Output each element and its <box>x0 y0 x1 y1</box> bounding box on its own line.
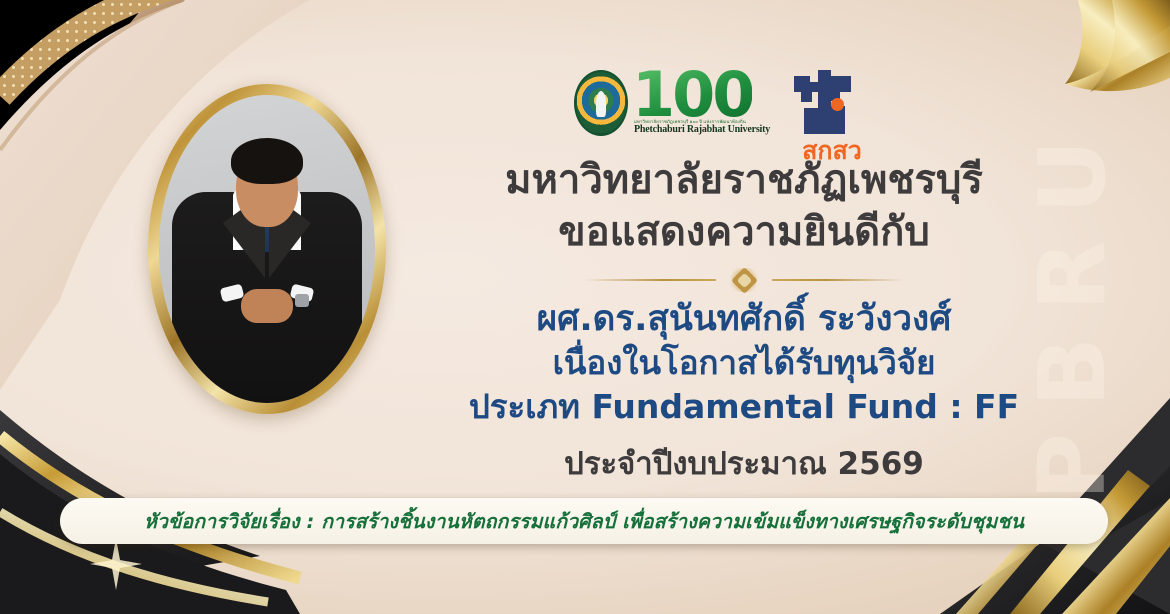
fiscal-year: ประจำปีงบประมาณ 2569 <box>424 438 1064 488</box>
research-title-text: หัวข้อการวิจัยเรื่อง : การสร้างชิ้นงานหั… <box>144 506 1024 537</box>
portrait-gold-frame <box>148 84 386 414</box>
congratulations-banner: PBRU 100 มหาวิทยาลัยราชภัฏเพชรบุรี ๑๐๐ <box>0 0 1170 614</box>
divider-bar-left <box>584 279 716 281</box>
divider-diamond-icon <box>728 268 760 292</box>
portrait-hair <box>231 138 303 184</box>
portrait-photo <box>159 95 375 403</box>
honoree-occasion: เนื่องในโอกาสได้รับทุนวิจัย <box>424 344 1064 382</box>
portrait-hands <box>241 289 293 323</box>
portrait-wristwatch <box>295 294 309 307</box>
headline-line-1: มหาวิทยาลัยราชภัฏเพชรบุรี <box>424 158 1064 203</box>
honoree-portrait <box>148 84 386 414</box>
honoree-name: ผศ.ดร.สุนันทศักดิ์ ระวังวงศ์ <box>424 300 1064 340</box>
research-title-pill: หัวข้อการวิจัยเรื่อง : การสร้างชิ้นงานหั… <box>60 498 1108 544</box>
ornamental-divider <box>584 268 904 292</box>
fund-type: ประเภท Fundamental Fund : FF <box>424 388 1064 426</box>
divider-bar-right <box>772 279 904 281</box>
headline-line-2: ขอแสดงความยินดีกับ <box>424 210 1064 255</box>
